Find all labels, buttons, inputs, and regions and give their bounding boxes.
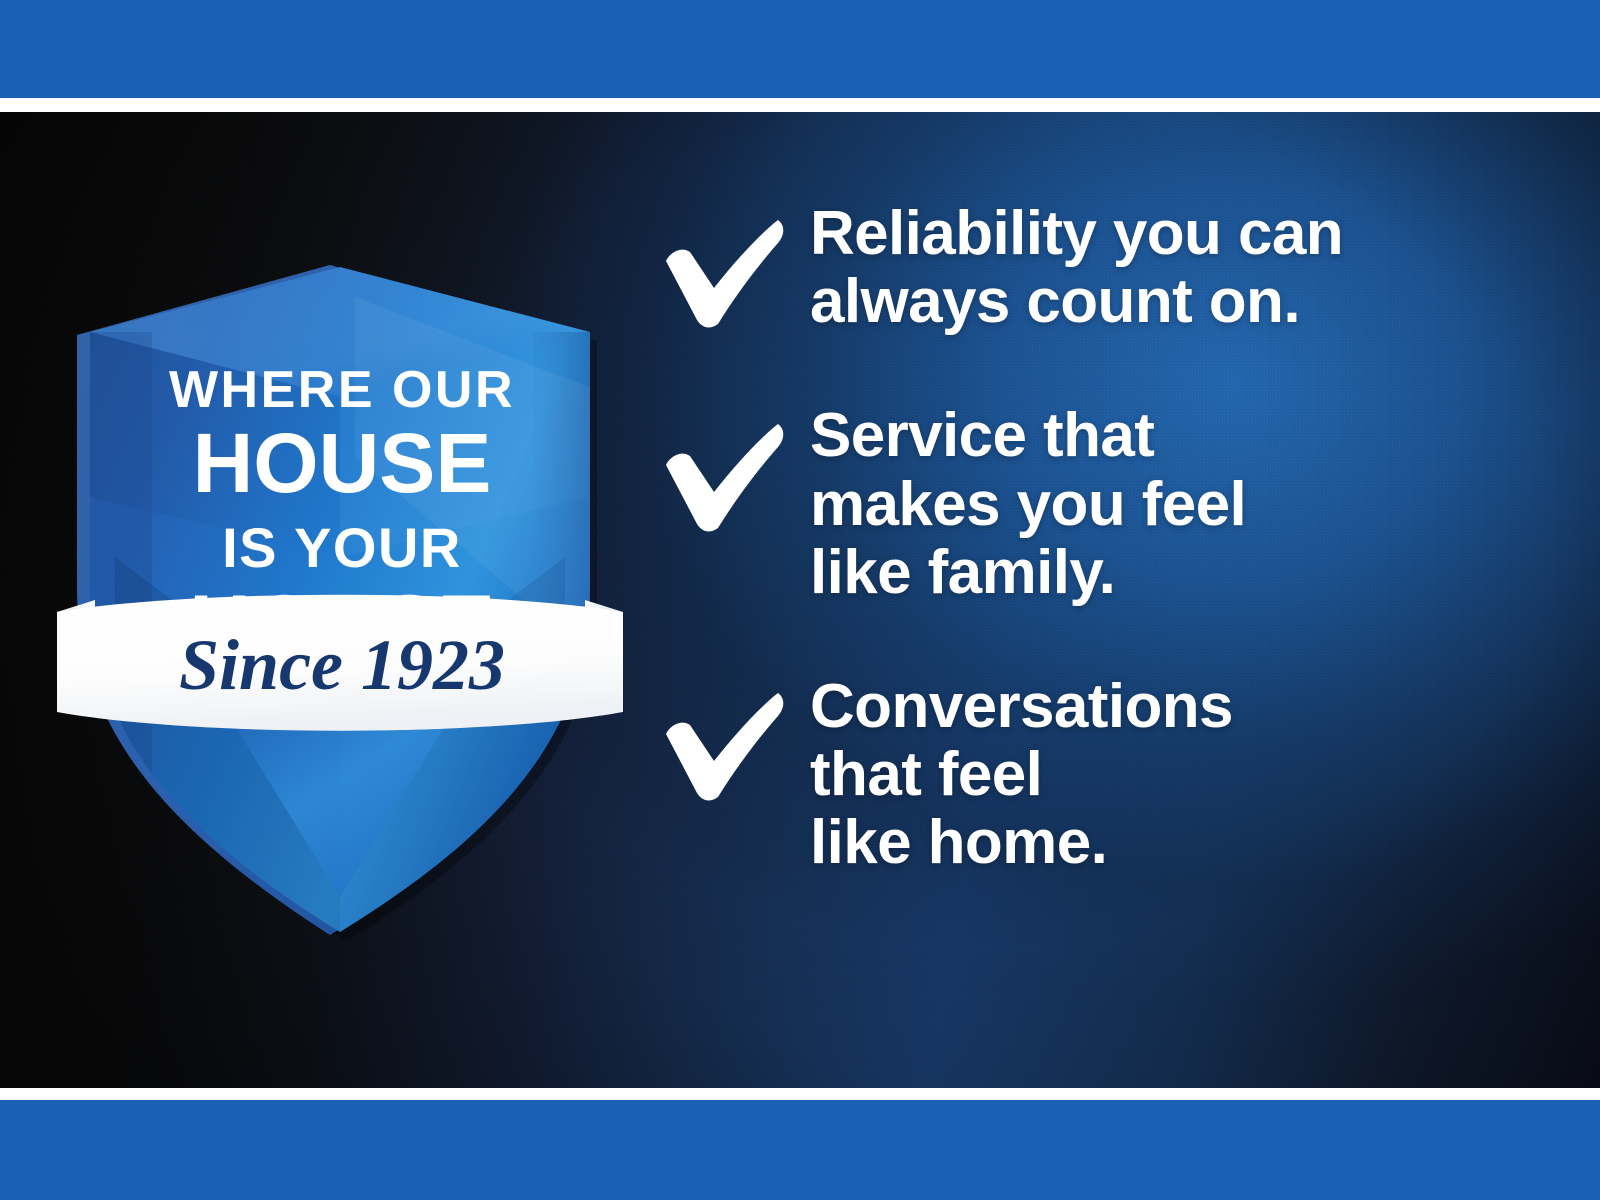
benefit-item: Service that makes you feel like family. — [660, 402, 1550, 607]
promo-graphic: WHERE OUR HOUSE IS YOUR HOUSE Since 1923 — [0, 0, 1600, 1200]
benefit-item: Conversations that feel like home. — [660, 673, 1550, 878]
benefits-list: Reliability you can always count on. Ser… — [660, 200, 1550, 878]
bottom-brand-band — [0, 1100, 1600, 1200]
main-stage: WHERE OUR HOUSE IS YOUR HOUSE Since 1923 — [0, 112, 1600, 1088]
bottom-white-divider — [0, 1088, 1600, 1100]
ribbon-since-text: Since 1923 — [179, 625, 505, 705]
benefit-item: Reliability you can always count on. — [660, 200, 1550, 336]
top-brand-band — [0, 0, 1600, 98]
check-icon — [660, 402, 810, 538]
shield-emblem: WHERE OUR HOUSE IS YOUR HOUSE Since 1923 — [55, 257, 625, 947]
check-icon — [660, 673, 810, 807]
check-icon — [660, 200, 810, 334]
shield-line-1: WHERE OUR — [169, 361, 515, 419]
benefit-label: Reliability you can always count on. — [810, 200, 1343, 336]
top-white-divider — [0, 98, 1600, 112]
shield-line-2: HOUSE — [193, 416, 492, 510]
benefit-label: Conversations that feel like home. — [810, 673, 1233, 878]
shield-line-3: IS YOUR — [222, 516, 462, 579]
benefit-label: Service that makes you feel like family. — [810, 402, 1246, 607]
